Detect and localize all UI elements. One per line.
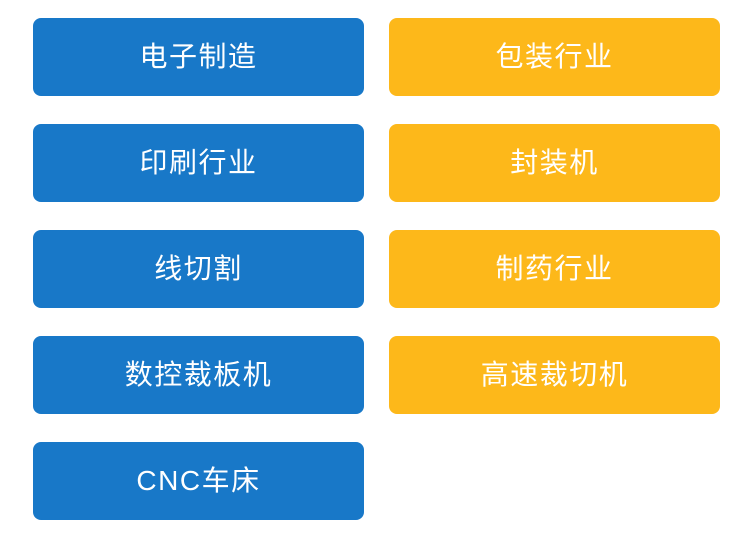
tag-button-baozhuanghangye[interactable]: 包装行业 <box>389 18 720 96</box>
tag-button-gaosucaiqieji[interactable]: 高速裁切机 <box>389 336 720 414</box>
tag-button-fengzhuangji[interactable]: 封装机 <box>389 124 720 202</box>
industry-and-machine-orange-column: 包装行业 封装机 制药行业 高速裁切机 <box>389 18 720 414</box>
tag-button-cnc-chechuang[interactable]: CNC车床 <box>33 442 364 520</box>
tag-button-label: 制药行业 <box>495 255 613 283</box>
tag-button-label: 印刷行业 <box>139 149 257 177</box>
industry-and-machine-blue-column: 电子制造 印刷行业 线切割 数控裁板机 CNC车床 <box>33 18 364 520</box>
tag-button-yinshuahangye[interactable]: 印刷行业 <box>33 124 364 202</box>
tag-button-label: CNC车床 <box>136 467 260 495</box>
tag-button-label: 包装行业 <box>495 43 613 71</box>
tag-button-dianzizhizao[interactable]: 电子制造 <box>33 18 364 96</box>
tag-button-zhiyaohangye[interactable]: 制药行业 <box>389 230 720 308</box>
tag-button-xianqiege[interactable]: 线切割 <box>33 230 364 308</box>
tag-button-label: 封装机 <box>510 149 599 177</box>
tag-button-shukongcaibanji[interactable]: 数控裁板机 <box>33 336 364 414</box>
tag-button-label: 高速裁切机 <box>481 361 629 389</box>
tag-button-label: 数控裁板机 <box>125 361 273 389</box>
tag-button-label: 电子制造 <box>139 43 257 71</box>
button-grid: 电子制造 印刷行业 线切割 数控裁板机 CNC车床 包装行业 封装机 制药行业 … <box>0 0 750 537</box>
tag-button-label: 线切割 <box>154 255 243 283</box>
